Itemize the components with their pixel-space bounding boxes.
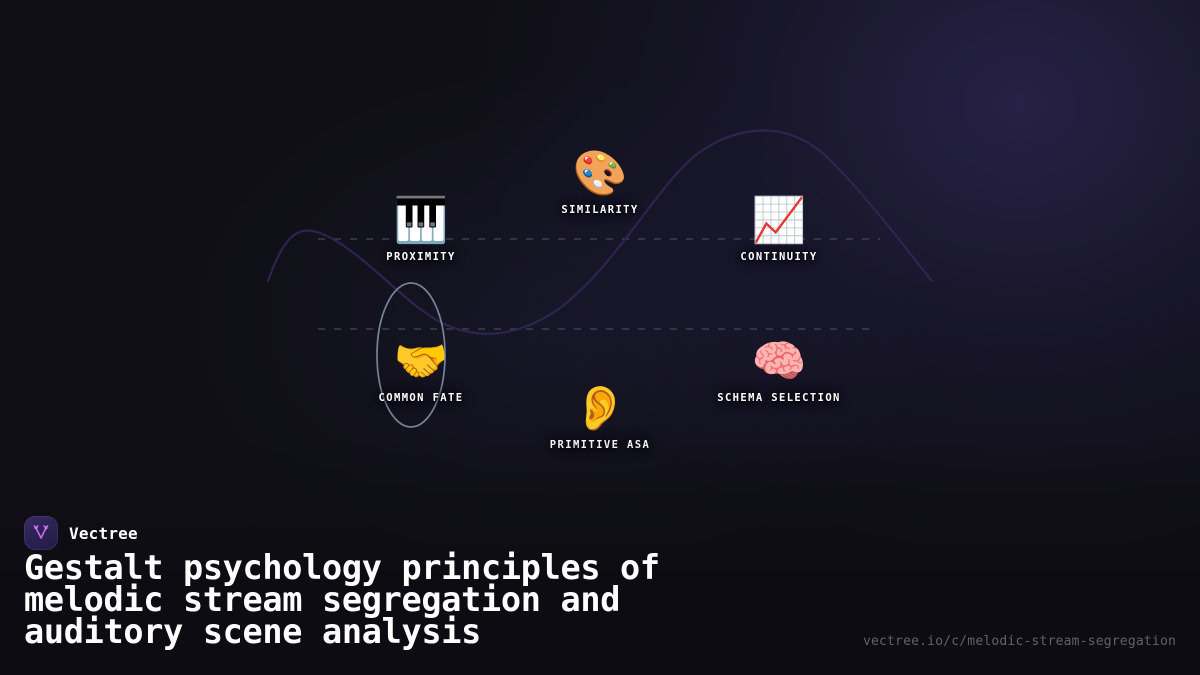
principle-node-label-schema-selection: SCHEMA SELECTION: [717, 392, 841, 404]
vectree-tree-logo-icon: [24, 516, 58, 550]
ear-emoji-icon: 👂: [573, 385, 628, 433]
logo-glyph: [31, 523, 51, 543]
principle-node-label-common-fate: COMMON FATE: [379, 392, 464, 404]
principle-node-label-continuity: CONTINUITY: [740, 251, 817, 263]
principle-node-continuity[interactable]: 📈CONTINUITY: [659, 197, 899, 263]
brain-emoji-icon: 🧠: [752, 338, 807, 386]
piano-emoji-icon: 🎹: [394, 197, 449, 245]
principle-node-label-proximity: PROXIMITY: [386, 251, 456, 263]
page-title: Gestalt psychology principles of melodic…: [24, 552, 660, 648]
principle-node-label-similarity: SIMILARITY: [561, 204, 638, 216]
palette-emoji-icon: 🎨: [573, 150, 628, 198]
principle-node-label-primitive-asa: PRIMITIVE ASA: [550, 439, 650, 451]
footer-url: vectree.io/c/melodic-stream-segregation: [863, 634, 1176, 649]
brand-row[interactable]: Vectree: [24, 516, 138, 550]
brand-name: Vectree: [69, 524, 138, 543]
chart-up-emoji-icon: 📈: [752, 197, 807, 245]
handshake-emoji-icon: 🤝: [394, 338, 449, 386]
principle-node-schema-selection[interactable]: 🧠SCHEMA SELECTION: [659, 338, 899, 404]
footer: Vectree Gestalt psychology principles of…: [0, 490, 1200, 675]
